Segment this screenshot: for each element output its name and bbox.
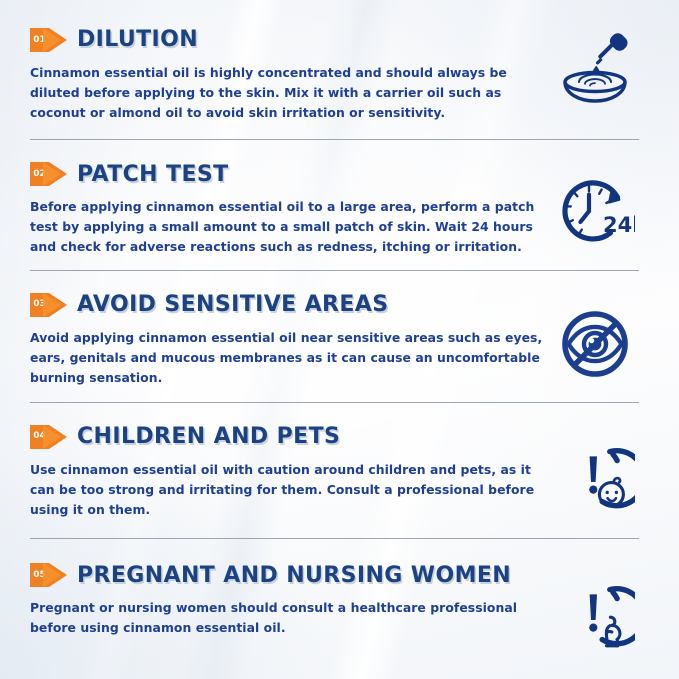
arrow-marker-shadow-icon <box>43 162 61 186</box>
section-dilution: 01 DILUTION Cinnamon essential oil is hi… <box>0 0 679 139</box>
section-icon-slot <box>547 32 643 112</box>
section-children-and-pets: 04 CHILDREN AND PETS Use cinnamon essent… <box>0 403 679 538</box>
step-badge-03: 03 <box>30 293 67 317</box>
arrow-marker-shadow-icon <box>43 28 61 52</box>
arrow-marker-shadow-icon <box>43 563 61 587</box>
section-title: CHILDREN AND PETS <box>77 425 340 448</box>
warning-baby-icon <box>555 439 635 515</box>
section-patch-test: 02 PATCH TEST Before applying cinnamon e… <box>0 140 679 269</box>
section-avoid-sensitive-areas: 03 AVOID SENSITIVE AREAS Avoid applying … <box>0 271 679 402</box>
eye-highlight-icon <box>589 338 594 343</box>
section-description: Avoid applying cinnamon essential oil ne… <box>30 328 547 388</box>
step-badge-02: 02 <box>30 162 67 186</box>
sections-list: 01 DILUTION Cinnamon essential oil is hi… <box>0 0 679 673</box>
section-description: Before applying cinnamon essential oil t… <box>30 197 547 257</box>
section-heading-row: 05 PREGNANT AND NURSING WOMEN <box>30 563 547 587</box>
section-content: 05 PREGNANT AND NURSING WOMEN Pregnant o… <box>30 563 547 638</box>
safety-tips-infographic: 01 DILUTION Cinnamon essential oil is hi… <box>0 0 679 679</box>
arrow-marker-shadow-icon <box>43 293 61 317</box>
section-heading-row: 03 AVOID SENSITIVE AREAS <box>30 293 547 317</box>
section-icon-slot <box>547 577 643 653</box>
no-eye-icon <box>558 307 632 381</box>
section-icon-slot <box>547 307 643 381</box>
section-icon-slot <box>547 439 643 515</box>
baby-face-icon <box>599 478 623 506</box>
exclamation-mark-icon <box>589 456 597 493</box>
clock-24h-icon: 24h <box>555 176 635 250</box>
warning-pregnant-woman-icon <box>555 577 635 653</box>
section-description: Cinnamon essential oil is highly concent… <box>30 63 547 123</box>
section-pregnant-and-nursing-women: 05 PREGNANT AND NURSING WOMEN Pregnant o… <box>0 539 679 673</box>
section-title: PREGNANT AND NURSING WOMEN <box>77 564 511 587</box>
section-content: 01 DILUTION Cinnamon essential oil is hi… <box>30 28 547 123</box>
section-content: 03 AVOID SENSITIVE AREAS Avoid applying … <box>30 293 547 388</box>
section-content: 04 CHILDREN AND PETS Use cinnamon essent… <box>30 425 547 520</box>
arrow-marker-shadow-icon <box>43 425 61 449</box>
section-icon-slot: 24h <box>547 176 643 250</box>
step-badge-01: 01 <box>30 28 67 52</box>
section-title: DILUTION <box>77 28 198 51</box>
section-heading-row: 01 DILUTION <box>30 28 547 52</box>
section-heading-row: 04 CHILDREN AND PETS <box>30 425 547 449</box>
section-description: Pregnant or nursing women should consult… <box>30 598 547 638</box>
oil-drop-icon <box>593 66 600 76</box>
section-content: 02 PATCH TEST Before applying cinnamon e… <box>30 162 547 257</box>
exclamation-mark-icon <box>589 595 597 632</box>
clock-hours-label: 24h <box>603 213 635 237</box>
dropper-bowl-icon <box>553 32 637 112</box>
step-badge-04: 04 <box>30 425 67 449</box>
section-description: Use cinnamon essential oil with caution … <box>30 460 547 520</box>
section-title: AVOID SENSITIVE AREAS <box>77 293 388 316</box>
section-heading-row: 02 PATCH TEST <box>30 162 547 186</box>
section-title: PATCH TEST <box>77 163 229 186</box>
step-badge-05: 05 <box>30 563 67 587</box>
